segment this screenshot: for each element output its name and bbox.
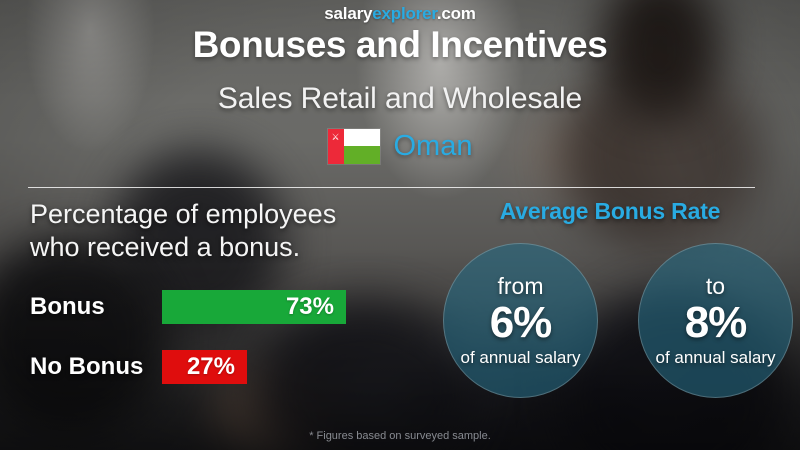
flag-band-white [344, 129, 380, 146]
bonus-percentage-description: Percentage of employees who received a b… [30, 198, 430, 264]
footnote: * Figures based on surveyed sample. [0, 430, 800, 442]
page-title: Bonuses and Incentives [0, 24, 800, 66]
circle-value-to: 8% [685, 300, 747, 346]
circle-note-from: of annual salary [460, 349, 580, 366]
average-bonus-rate-title: Average Bonus Rate [440, 198, 780, 225]
bonus-bar-chart: Bonus 73% No Bonus 27% [30, 290, 430, 410]
logo-accent: explorer [372, 4, 437, 23]
bar-value-bonus: 73% [286, 293, 334, 321]
circle-caption-from: from [498, 275, 544, 298]
bar-label-no-bonus: No Bonus [30, 353, 162, 381]
circle-note-to: of annual salary [655, 349, 775, 366]
description-line-1: Percentage of employees [30, 198, 430, 231]
page-subtitle: Sales Retail and Wholesale [0, 82, 800, 116]
oman-flag-icon: ⚔ [328, 129, 380, 164]
country-row: ⚔ Oman [0, 129, 800, 164]
bar-no-bonus: 27% [162, 350, 247, 384]
section-divider [28, 187, 755, 188]
description-line-2: who received a bonus. [30, 231, 430, 264]
circle-caption-to: to [706, 275, 725, 298]
flag-emblem-icon: ⚔ [331, 132, 341, 142]
bar-bonus: 73% [162, 290, 346, 324]
country-name: Oman [394, 130, 473, 163]
bonus-percentage-panel: Percentage of employees who received a b… [30, 198, 430, 264]
logo-tld: .com [437, 4, 476, 23]
logo-main: salary [324, 4, 372, 23]
bar-label-bonus: Bonus [30, 293, 162, 321]
bar-row-bonus: Bonus 73% [30, 290, 430, 324]
average-bonus-rate-panel: Average Bonus Rate [440, 198, 780, 225]
site-logo[interactable]: salaryexplorer.com [0, 4, 800, 24]
bonus-rate-circles: from 6% of annual salary to 8% of annual… [443, 243, 793, 398]
bar-row-no-bonus: No Bonus 27% [30, 350, 430, 384]
infographic-canvas: salaryexplorer.com Bonuses and Incentive… [0, 0, 800, 450]
circle-value-from: 6% [490, 300, 552, 346]
bonus-rate-circle-from: from 6% of annual salary [443, 243, 598, 398]
bar-value-no-bonus: 27% [187, 353, 235, 381]
flag-band-green [344, 146, 380, 164]
bonus-rate-circle-to: to 8% of annual salary [638, 243, 793, 398]
